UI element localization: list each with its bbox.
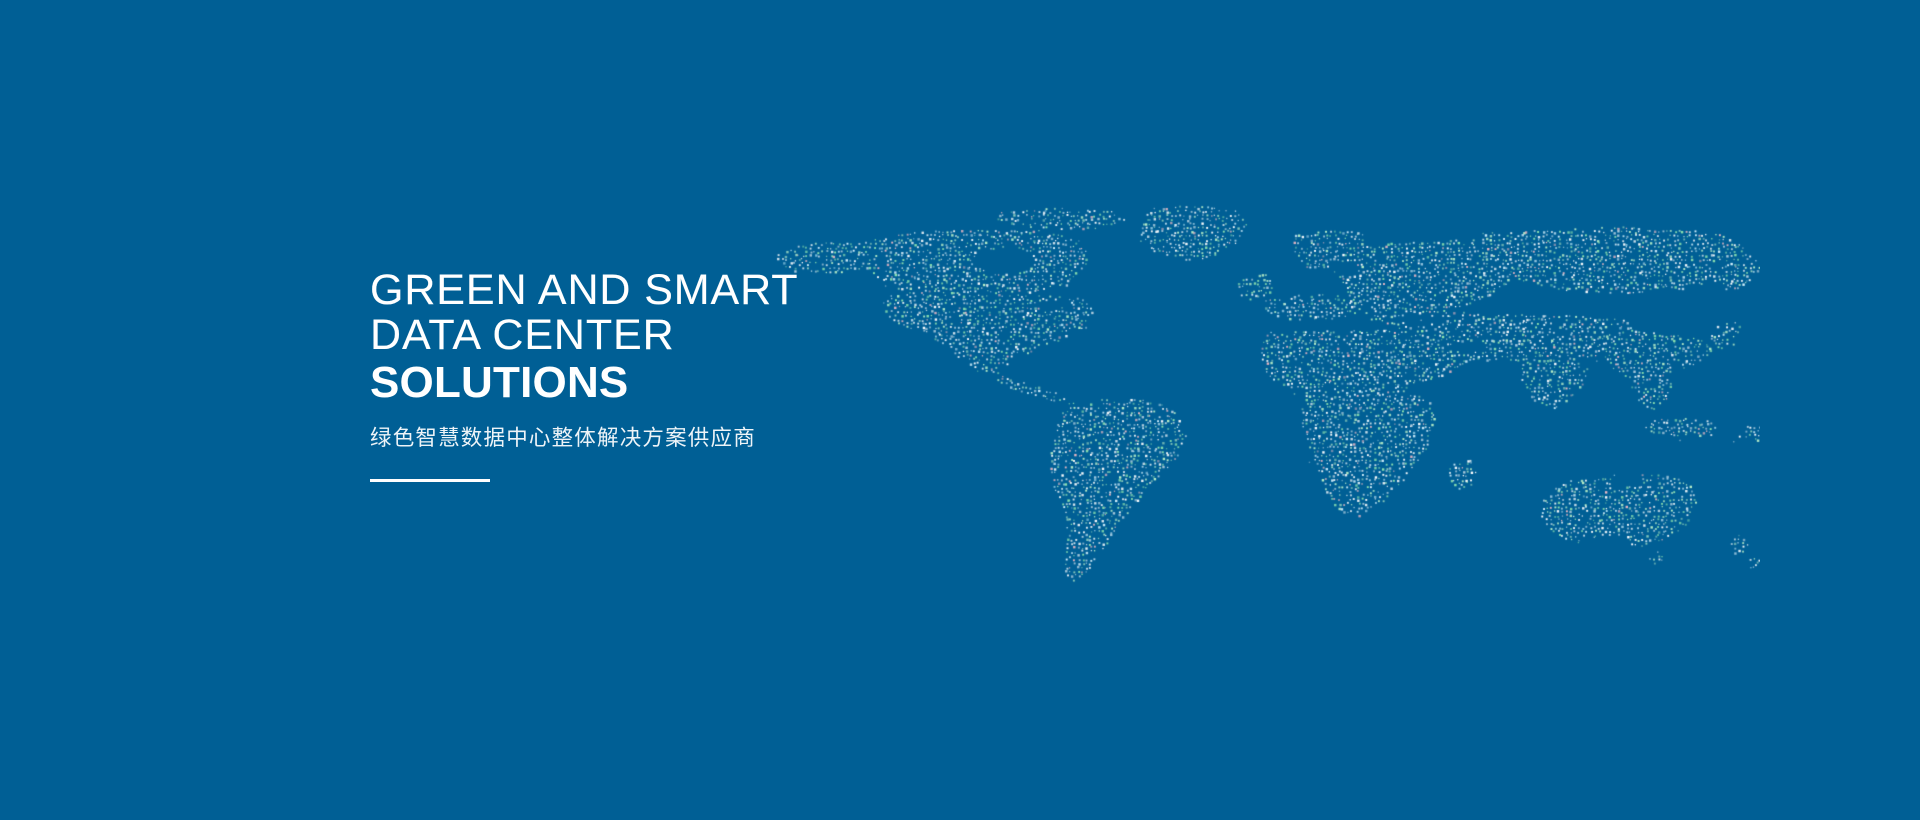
hero-text-block: GREEN AND SMART DATA CENTER SOLUTIONS 绿色… xyxy=(370,268,990,482)
hero-banner: GREEN AND SMART DATA CENTER SOLUTIONS 绿色… xyxy=(0,0,1920,820)
hero-divider xyxy=(370,479,490,482)
headline-line-2: DATA CENTER xyxy=(370,313,990,358)
headline-line-3: SOLUTIONS xyxy=(370,358,990,408)
hero-subtitle: 绿色智慧数据中心整体解决方案供应商 xyxy=(370,424,990,452)
headline-line-1: GREEN AND SMART xyxy=(370,268,990,313)
